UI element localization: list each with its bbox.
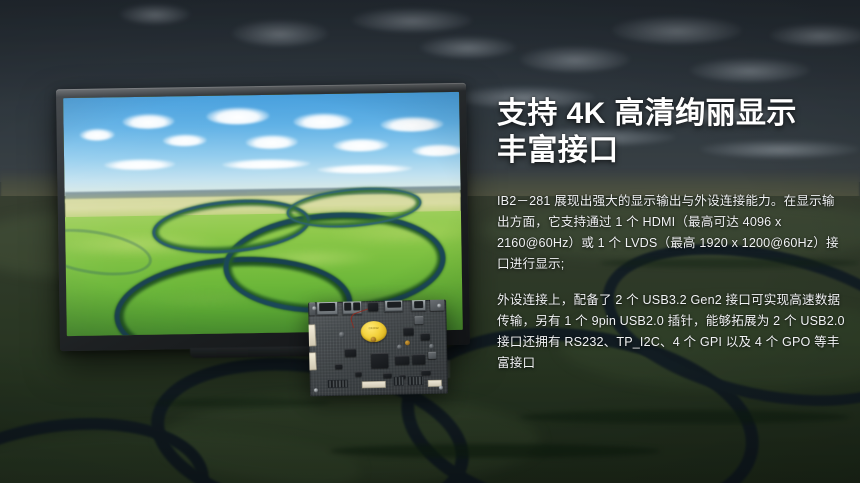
mounting-hole (437, 304, 441, 308)
gpio-header (328, 380, 348, 388)
screen-cloud-icon (246, 135, 298, 149)
paragraph-display-output: IB2－281 展现出强大的显示输出与外设连接能力。在显示输出方面，它支持通过 … (497, 191, 845, 275)
controller-chip (345, 348, 356, 356)
battery-label: CR2032 (361, 327, 387, 331)
lvds-connector (308, 324, 316, 346)
edp-connector (308, 352, 317, 370)
capacitor (397, 344, 402, 349)
page-title: 支持 4K 高清绚丽显示 丰富接口 (497, 95, 845, 169)
passive-component (384, 373, 392, 378)
memory-chip (412, 354, 425, 364)
mounting-hole (439, 386, 443, 390)
controller-chip (404, 327, 414, 335)
power-jack (411, 300, 426, 312)
hdmi-port (384, 300, 403, 312)
mounting-hole (314, 388, 318, 392)
inductor (428, 352, 436, 359)
fan-connector (362, 381, 386, 389)
motherboard-pcb: CR2032 (308, 300, 448, 397)
headline-line-1: 支持 4K 高清绚丽显示 (497, 95, 845, 132)
capacitor (339, 332, 345, 338)
paragraph-peripheral-io: 外设连接上，配备了 2 个 USB3.2 Gen2 接口可实现高速数据传输，另有… (497, 290, 845, 374)
screen-cloud-icon (293, 113, 353, 129)
controller-chip (421, 333, 430, 340)
body-copy: IB2－281 展现出强大的显示输出与外设连接能力。在显示输出方面，它支持通过 … (497, 191, 845, 374)
inductor (414, 316, 423, 324)
capacitor (429, 344, 434, 349)
text-panel: 支持 4K 高清绚丽显示 丰富接口 IB2－281 展现出强大的显示输出与外设连… (497, 95, 845, 374)
soc-chip (371, 353, 388, 368)
memory-chip (395, 355, 409, 364)
headline-line-2: 丰富接口 (497, 132, 845, 169)
passive-component (335, 364, 342, 369)
small-connector (368, 302, 378, 311)
gpio-header (394, 376, 404, 385)
usb2-9pin-header (408, 376, 424, 385)
slide-canvas: CR2032 (0, 0, 860, 483)
mounting-hole (312, 306, 316, 310)
motherboard: CR2032 (302, 289, 454, 398)
standoff-screw (405, 340, 410, 345)
standoff-screw (371, 337, 376, 342)
ethernet-port (316, 300, 338, 315)
passive-component (422, 370, 431, 375)
passive-component (356, 371, 362, 376)
